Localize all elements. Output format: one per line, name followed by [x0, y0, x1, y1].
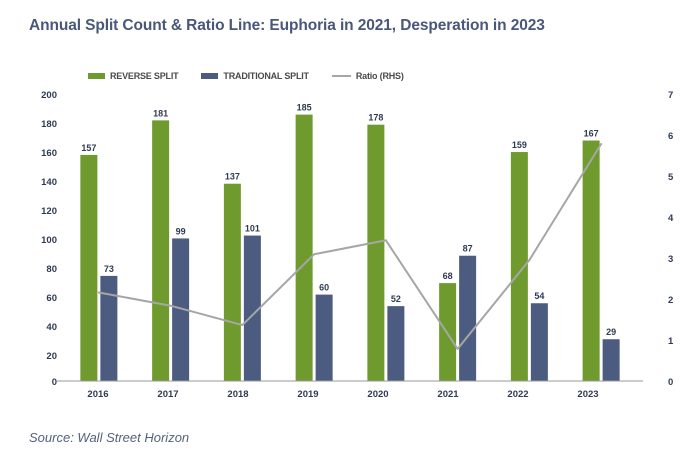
svg-text:60: 60: [319, 283, 329, 293]
x-axis-tick-2020: 2020: [348, 389, 408, 400]
y-axis-left-tick: 20: [27, 351, 57, 362]
y-axis-left-tick: 80: [27, 264, 57, 275]
x-axis-tick-2019: 2019: [278, 389, 338, 400]
svg-text:29: 29: [606, 327, 616, 337]
y-axis-left-tick: 60: [27, 293, 57, 304]
y-axis-left-tick: 40: [27, 322, 57, 333]
y-axis-left-tick: 180: [27, 119, 57, 130]
svg-text:87: 87: [463, 244, 473, 254]
svg-text:68: 68: [443, 271, 453, 281]
y-axis-right-tick: 4: [668, 213, 688, 224]
x-axis-tick-2016: 2016: [68, 389, 128, 400]
svg-text:54: 54: [534, 291, 544, 301]
plot-area: 200 180 160 140 120 100 80 60 40 20 0 7 …: [0, 0, 696, 465]
svg-text:178: 178: [368, 113, 383, 123]
y-axis-left-tick: 160: [27, 148, 57, 159]
y-axis-right-tick: 1: [668, 336, 688, 347]
y-axis-right-tick: 6: [668, 131, 688, 142]
source-note: Source: Wall Street Horizon: [29, 430, 189, 445]
y-axis-left-tick: 100: [27, 235, 57, 246]
svg-text:185: 185: [297, 103, 312, 113]
y-axis-left-tick: 0: [27, 377, 57, 388]
svg-text:99: 99: [176, 226, 186, 236]
x-axis-tick-2022: 2022: [488, 389, 548, 400]
svg-text:167: 167: [584, 129, 599, 139]
svg-text:181: 181: [153, 108, 168, 118]
svg-text:73: 73: [104, 264, 114, 274]
chart-card: Annual Split Count & Ratio Line: Euphori…: [0, 0, 696, 465]
y-axis-left-tick: 200: [27, 90, 57, 101]
bar-value-labels-group: 1577318199137101185601785268871595416729: [81, 103, 616, 338]
x-axis-tick-2023: 2023: [558, 389, 618, 400]
svg-text:52: 52: [391, 294, 401, 304]
y-axis-right-tick: 5: [668, 172, 688, 183]
x-axis-tick-2018: 2018: [208, 389, 268, 400]
svg-text:101: 101: [245, 224, 260, 234]
ratio-line-group: [99, 144, 601, 349]
svg-text:157: 157: [81, 143, 96, 153]
y-axis-left-tick: 120: [27, 206, 57, 217]
y-axis-right-tick: 0: [668, 377, 688, 388]
svg-text:137: 137: [225, 172, 240, 182]
x-axis-tick-2017: 2017: [138, 389, 198, 400]
y-axis-right-tick: 3: [668, 254, 688, 265]
y-axis-left-tick: 140: [27, 177, 57, 188]
y-axis-right-tick: 2: [668, 295, 688, 306]
svg-text:159: 159: [512, 140, 527, 150]
x-axis-tick-2021: 2021: [418, 389, 478, 400]
bars-group: [80, 115, 619, 381]
y-axis-right-tick: 7: [668, 90, 688, 101]
